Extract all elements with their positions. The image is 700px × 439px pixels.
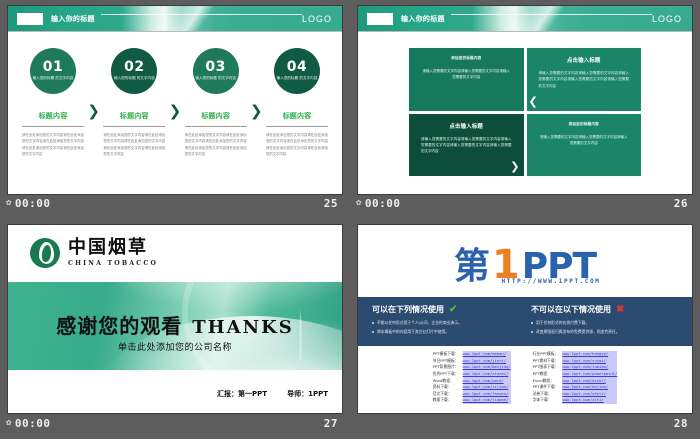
link-label: 资料下载： <box>433 384 459 391</box>
china-tobacco-logo: 中国烟草 CHINA TOBACCO <box>8 225 342 268</box>
slide-26[interactable]: 输入你的标题 LOGO 添加您的标题内容 请输入您需要的文字内容请输入您需要的文… <box>358 6 692 194</box>
header-title: 输入你的标题 <box>51 14 95 24</box>
process-step-2[interactable]: 02 输入您的标题 的文字内容 标题内容 请在此处添加您的文字内容请在此处添加您… <box>103 48 165 157</box>
company-name-placeholder[interactable]: 单击此处添加您的公司名称 <box>8 340 342 353</box>
links-column-right: 行业PPT模板： www.1ppt.com/hangye/ PPT素材下载： w… <box>533 351 618 404</box>
link-label: PPT图表下载： <box>533 364 559 371</box>
link-label: Excel教程： <box>533 378 559 385</box>
link-url[interactable]: www.1ppt.com/xiazai/ <box>463 371 511 378</box>
slide-header-bar: 输入你的标题 LOGO <box>358 6 692 31</box>
quadrant-title: 添加您的标题内容 <box>539 122 630 127</box>
process-title: 标题内容 <box>283 111 312 121</box>
status-bar-26: ✿ 00:00 26 <box>350 192 700 214</box>
chevron-right-icon[interactable]: ❯ <box>510 161 519 172</box>
logo-text-cn: 中国烟草 <box>68 239 158 257</box>
process-circle-3[interactable]: 03 输入您的标题 的文字内容 <box>193 48 239 94</box>
reporter-label: 汇报：第一PPT <box>217 389 267 399</box>
process-body: 请在此处添加您的文字内容请在此处添加您的文字内容请在此处添加您的文字内容请在此处… <box>103 132 165 157</box>
link-url[interactable]: www.1ppt.com/jiaoan/ <box>463 397 511 404</box>
process-subtext: 输入您的标题 的文字内容 <box>33 76 74 81</box>
link-url[interactable]: www.1ppt.com/tubiao/ <box>562 364 617 371</box>
terms-allowed-title: 可以在下列情况使用 <box>372 304 444 315</box>
link-label: 节日PPT模板： <box>433 358 459 365</box>
quadrant-body: 请输入您需要的文字内容请输入您需要的文字内容请输入您需要的文字内容 <box>539 134 630 147</box>
link-url[interactable]: www.1ppt.com/jieri/ <box>463 358 511 365</box>
brand-char-di: 第 <box>454 251 490 283</box>
timer-value: 00:00 <box>365 197 401 210</box>
link-label: PPT课件下载： <box>533 384 559 391</box>
quadrant-body: 请输入您需要的文字内容请输入您需要的文字内容请输入您需要的文字内容 <box>421 68 512 81</box>
terms-item-text: 用于任何形式的在线付费下载。 <box>536 320 589 326</box>
chevron-right-icon: ❯ <box>169 104 182 119</box>
quadrant-top-left[interactable]: 添加您的标题内容 请输入您需要的文字内容请输入您需要的文字内容请输入您需要的文字… <box>409 48 524 111</box>
quadrant-body: 请输入您需要的文字内容请输入您需要的文字内容请输入您需要的文字内容请输入您需要的… <box>539 70 630 89</box>
process-circle-2[interactable]: 02 输入您的标题 的文字内容 <box>111 48 157 94</box>
terms-item-text: 改变原版权归属发布的免费提供源，则追究责任。 <box>536 329 620 335</box>
header-logo: LOGO <box>302 14 332 24</box>
link-label: 试卷下载： <box>533 391 559 398</box>
process-title: 标题内容 <box>120 111 149 121</box>
status-bar-28: 28 <box>350 412 700 434</box>
quadrant-bottom-right[interactable]: 添加您的标题内容 请输入您需要的文字内容请输入您需要的文字内容请输入您需要的文字… <box>527 114 642 177</box>
terms-allowed-column: 可以在下列情况使用 ✔ 不能以任何形式用于个人/公司、企业的商业演示。 将本模板… <box>372 304 521 338</box>
quadrant-title: 点击输入标题 <box>539 56 630 64</box>
link-url[interactable]: www.1ppt.com/powerpoint/ <box>562 371 617 378</box>
link-url[interactable]: www.1ppt.com/beijing/ <box>463 364 511 371</box>
process-diagram: 01 输入您的标题 的文字内容 标题内容 请在此处添加您的文字内容请在此处添加您… <box>8 32 342 157</box>
process-divider <box>185 126 247 127</box>
header-title: 输入你的标题 <box>401 14 445 24</box>
status-bar-27: ✿ 00:00 27 <box>0 412 350 434</box>
quadrant-layout: 添加您的标题内容 请输入您需要的文字内容请输入您需要的文字内容请输入您需要的文字… <box>358 32 692 176</box>
tobacco-leaf-icon <box>30 238 60 268</box>
process-subtext: 输入您的标题 的文字内容 <box>195 76 236 81</box>
quadrant-bottom-left[interactable]: 点击输入标题 请输入您需要的文字内容请输入您需要的文字内容请输入您需要的文字内容… <box>409 114 524 177</box>
link-url[interactable]: www.1ppt.com/fanwen/ <box>463 391 511 398</box>
status-bar-25: ✿ 00:00 25 <box>0 192 350 214</box>
page-number: 26 <box>674 197 688 210</box>
link-url[interactable]: www.1ppt.com/ziti/ <box>562 397 617 404</box>
slide-25[interactable]: 输入你的标题 LOGO 01 输入您的标题 的文字内容 标题内容 请在此处添加您… <box>8 6 342 194</box>
header-rule <box>101 14 302 15</box>
process-divider <box>22 126 84 127</box>
thanks-text-en: THANKS <box>192 317 293 338</box>
terms-denied-item: 用于任何形式的在线付费下载。 <box>531 320 680 326</box>
header-swatch <box>17 13 43 25</box>
link-label: 行业PPT模板： <box>533 351 559 358</box>
link-url[interactable]: www.1ppt.com/shiti/ <box>562 391 617 398</box>
link-label: 范文下载： <box>433 391 459 398</box>
process-step-4[interactable]: 04 输入您的标题 的文字内容 标题内容 请在此处添加您的文字内容请在此处添加您… <box>266 48 328 157</box>
process-subtext: 输入您的标题 的文字内容 <box>277 76 318 81</box>
process-step-3[interactable]: 03 输入您的标题 的文字内容 标题内容 请在此处添加您的文字内容请在此处添加您… <box>185 48 247 157</box>
terms-item-text: 将本模板中的内容用于其它幻灯片中使用。 <box>377 329 449 335</box>
timer-group: ✿ 00:00 <box>6 417 51 430</box>
quadrant-body: 请输入您需要的文字内容请输入您需要的文字内容请输入您需要的文字内容请输入您需要的… <box>421 136 512 155</box>
decorative-green-band: 感谢您的观看THANKS 单击此处添加您的公司名称 <box>8 282 342 370</box>
chevron-right-icon: ❯ <box>250 104 263 119</box>
link-label: 优秀PPT下载： <box>433 371 459 378</box>
slide-cell-26[interactable]: 输入你的标题 LOGO 添加您的标题内容 请输入您需要的文字内容请输入您需要的文… <box>350 0 700 219</box>
slide-thumbnail-grid: 输入你的标题 LOGO 01 输入您的标题 的文字内容 标题内容 请在此处添加您… <box>0 0 700 439</box>
process-circle-4[interactable]: 04 输入您的标题 的文字内容 <box>274 48 320 94</box>
link-label: PPT教程： <box>533 371 559 378</box>
timer-group: ✿ 00:00 <box>356 197 401 210</box>
link-label: PPT素材下载： <box>533 358 559 365</box>
advisor-label: 导师：1PPT <box>287 389 328 399</box>
page-number: 25 <box>324 197 338 210</box>
process-divider <box>103 126 165 127</box>
timer-value: 00:00 <box>15 417 51 430</box>
slide-cell-25[interactable]: 输入你的标题 LOGO 01 输入您的标题 的文字内容 标题内容 请在此处添加您… <box>0 0 350 219</box>
process-number: 03 <box>205 60 225 74</box>
process-body: 请在此处添加您的文字内容请在此处添加您的文字内容请在此处添加您的文字内容请在此处… <box>266 132 328 157</box>
terms-allowed-item: 不能以任何形式用于个人/公司、企业的商业演示。 <box>372 320 521 326</box>
star-icon: ✿ <box>6 419 12 428</box>
link-url[interactable]: www.1ppt.com/ziliao/ <box>463 384 511 391</box>
chevron-left-icon[interactable]: ❮ <box>529 96 538 107</box>
usage-terms-banner: 可以在下列情况使用 ✔ 不能以任何形式用于个人/公司、企业的商业演示。 将本模板… <box>358 297 692 346</box>
timer-group: ✿ 00:00 <box>6 197 51 210</box>
terms-allowed-item: 将本模板中的内容用于其它幻灯片中使用。 <box>372 329 521 335</box>
terms-denied-column: 不可以在以下情况使用 ✖ 用于任何形式的在线付费下载。 改变原版权归属发布的免费… <box>531 304 680 338</box>
process-body: 请在此处添加您的文字内容请在此处添加您的文字内容请在此处添加您的文字内容请在此处… <box>22 132 84 157</box>
page-number: 28 <box>674 417 688 430</box>
star-icon: ✿ <box>356 199 362 208</box>
terms-item-text: 不能以任何形式用于个人/公司、企业的商业演示。 <box>377 320 462 326</box>
logo-text-en: CHINA TOBACCO <box>68 260 158 267</box>
slide-cell-28[interactable]: 第 1 PPT HTTP://WWW.1PPT.COM 可以在下列情况使用 ✔ <box>350 219 700 439</box>
quadrant-title: 点击输入标题 <box>421 122 512 130</box>
link-url[interactable]: www.1ppt.com/kejian/ <box>562 384 617 391</box>
cross-icon: ✖ <box>616 305 624 315</box>
process-divider <box>266 126 328 127</box>
bullet-icon <box>372 331 374 333</box>
process-number: 02 <box>124 60 144 74</box>
process-circle-1[interactable]: 01 输入您的标题 的文字内容 <box>30 48 76 94</box>
link-label: PPT背景图片： <box>433 364 459 371</box>
brand-url: HTTP://WWW.1PPT.COM <box>410 278 692 285</box>
slide-cell-27[interactable]: 中国烟草 CHINA TOBACCO 感谢您的观看THANKS 单击此处添加您的… <box>0 219 350 439</box>
link-label: Word教程： <box>433 378 459 385</box>
star-icon: ✿ <box>6 199 12 208</box>
process-subtext: 输入您的标题 的文字内容 <box>114 76 155 81</box>
bullet-icon <box>531 322 533 324</box>
link-url[interactable]: www.1ppt.com/hangye/ <box>562 351 617 358</box>
process-number: 04 <box>287 60 307 74</box>
links-column-left: PPT模板下载： www.1ppt.com/moban/ 节日PPT模板： ww… <box>433 351 511 404</box>
slide-27[interactable]: 中国烟草 CHINA TOBACCO 感谢您的观看THANKS 单击此处添加您的… <box>8 225 342 413</box>
link-label: 字体下载： <box>533 397 559 404</box>
header-logo: LOGO <box>652 14 682 24</box>
process-step-1[interactable]: 01 输入您的标题 的文字内容 标题内容 请在此处添加您的文字内容请在此处添加您… <box>22 48 84 157</box>
page-number: 27 <box>324 417 338 430</box>
terms-denied-title: 不可以在以下情况使用 <box>531 304 611 315</box>
slide-header-bar: 输入你的标题 LOGO <box>8 6 342 31</box>
bullet-icon <box>531 331 533 333</box>
link-url[interactable]: www.1ppt.com/excel/ <box>562 378 617 385</box>
quadrant-top-right[interactable]: 点击输入标题 请输入您需要的文字内容请输入您需要的文字内容请输入您需要的文字内容… <box>527 48 642 111</box>
process-title: 标题内容 <box>201 111 230 121</box>
bullet-icon <box>372 322 374 324</box>
slide-28[interactable]: 第 1 PPT HTTP://WWW.1PPT.COM 可以在下列情况使用 ✔ <box>358 225 692 413</box>
timer-value: 00:00 <box>15 197 51 210</box>
chevron-right-icon: ❯ <box>87 104 100 119</box>
process-title: 标题内容 <box>39 111 68 121</box>
check-icon: ✔ <box>449 305 457 315</box>
terms-denied-item: 改变原版权归属发布的免费提供源，则追究责任。 <box>531 329 680 335</box>
quadrant-title: 添加您的标题内容 <box>421 56 512 61</box>
thanks-text-cn: 感谢您的观看 <box>56 314 182 338</box>
process-number: 01 <box>43 60 63 74</box>
link-label: 教案下载： <box>433 397 459 404</box>
link-url[interactable]: www.1ppt.com/moban/ <box>463 351 511 358</box>
process-body: 请在此处添加您的文字内容请在此处添加您的文字内容请在此处添加您的文字内容请在此处… <box>185 132 247 157</box>
resource-links: PPT模板下载： www.1ppt.com/moban/ 节日PPT模板： ww… <box>358 346 692 404</box>
link-url[interactable]: www.1ppt.com/word/ <box>463 378 511 385</box>
link-url[interactable]: www.1ppt.com/sucai/ <box>562 358 617 365</box>
link-label: PPT模板下载： <box>433 351 459 358</box>
header-swatch <box>367 13 393 25</box>
header-rule <box>451 14 652 15</box>
first-ppt-brand-logo: 第 1 PPT HTTP://WWW.1PPT.COM <box>358 225 692 285</box>
presenter-footer: 汇报：第一PPT 导师：1PPT <box>217 389 328 399</box>
thanks-heading: 感谢您的观看THANKS <box>8 310 342 339</box>
